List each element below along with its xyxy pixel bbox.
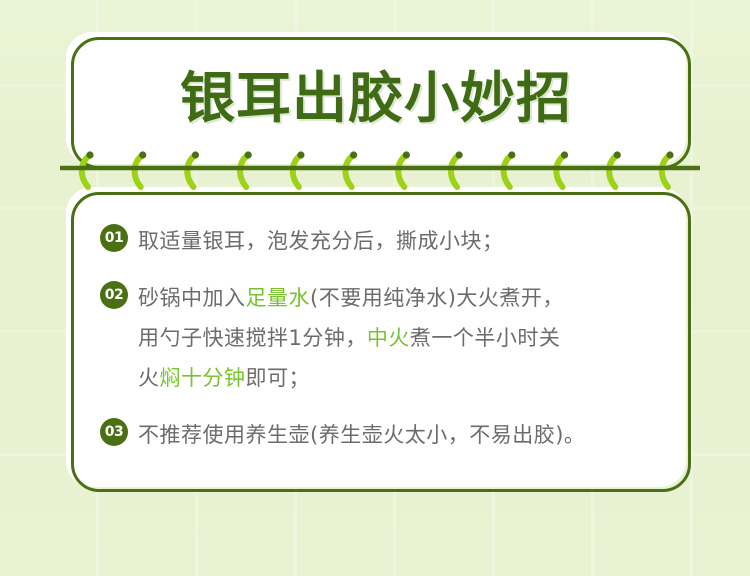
title-card: 银耳出胶小妙招	[66, 32, 686, 164]
step-text: 砂锅中加入足量水(不要用纯净水)大火煮开，用勺子快速搅拌1分钟，中火煮一个半小时…	[138, 278, 564, 398]
highlighted-text: 中火	[367, 326, 410, 350]
step-number-badge: 03	[100, 418, 128, 446]
step-text-line: 用勺子快速搅拌1分钟，中火煮一个半小时关	[138, 318, 564, 358]
plain-text: 砂锅中加入	[138, 286, 246, 310]
step-text-line: 不推荐使用养生壶(养生壶火太小，不易出胶)。	[138, 415, 585, 455]
step-row: 01取适量银耳，泡发充分后，撕成小块；	[100, 221, 660, 261]
step-text-line: 火焖十分钟即可；	[138, 358, 564, 398]
step-text-line: 砂锅中加入足量水(不要用纯净水)大火煮开，	[138, 278, 564, 318]
plain-text: 不推荐使用养生壶(养生壶火太小，不易出胶)。	[138, 423, 585, 447]
plain-text: 煮一个半小时关	[410, 326, 561, 350]
plain-text: 取适量银耳，泡发充分后，撕成小块；	[138, 229, 504, 253]
steps-card: 01取适量银耳，泡发充分后，撕成小块；02砂锅中加入足量水(不要用纯净水)大火煮…	[66, 187, 686, 487]
highlighted-text: 焖十分钟	[160, 366, 246, 390]
step-row: 03不推荐使用养生壶(养生壶火太小，不易出胶)。	[100, 415, 660, 455]
step-number-badge: 02	[100, 281, 128, 309]
step-row: 02砂锅中加入足量水(不要用纯净水)大火煮开，用勺子快速搅拌1分钟，中火煮一个半…	[100, 278, 660, 398]
plain-text: 火	[138, 366, 160, 390]
page-title: 银耳出胶小妙招	[180, 71, 572, 126]
step-text: 不推荐使用养生壶(养生壶火太小，不易出胶)。	[138, 415, 585, 455]
step-text-line: 取适量银耳，泡发充分后，撕成小块；	[138, 221, 504, 261]
step-number-badge: 01	[100, 224, 128, 252]
highlighted-text: 足量水	[246, 286, 311, 310]
plain-text: (不要用纯净水)大火煮开，	[310, 286, 564, 310]
plain-text: 用勺子快速搅拌1分钟，	[138, 326, 367, 350]
step-text: 取适量银耳，泡发充分后，撕成小块；	[138, 221, 504, 261]
steps-list: 01取适量银耳，泡发充分后，撕成小块；02砂锅中加入足量水(不要用纯净水)大火煮…	[100, 221, 660, 455]
plain-text: 即可；	[246, 366, 311, 390]
